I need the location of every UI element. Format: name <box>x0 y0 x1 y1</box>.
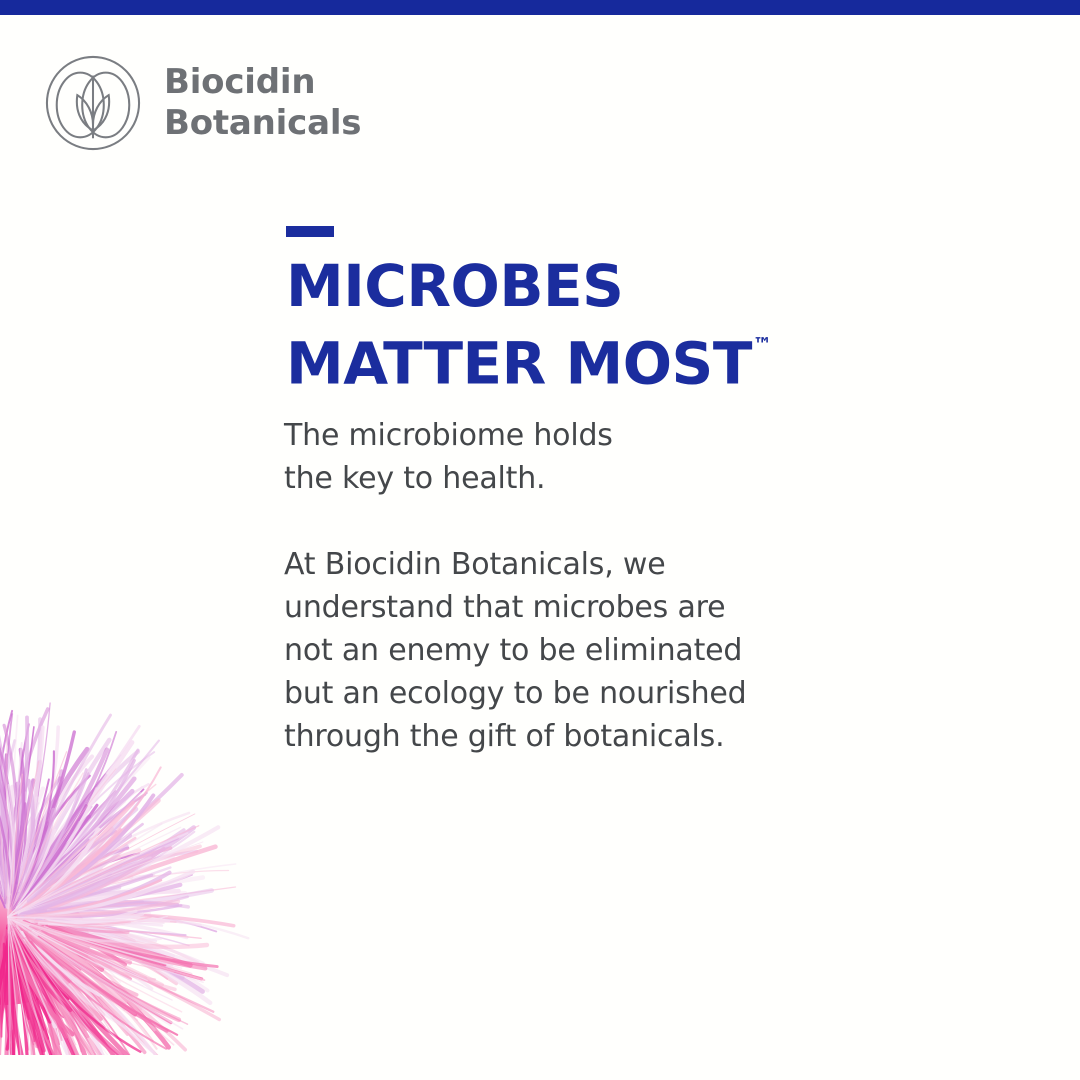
paragraph-2-line-3: not an enemy to be eliminated <box>284 629 844 672</box>
paragraph-2: At Biocidin Botanicals, we understand th… <box>284 543 844 758</box>
paragraph-2-line-2: understand that microbes are <box>284 586 844 629</box>
paragraph-2-line-1: At Biocidin Botanicals, we <box>284 543 844 586</box>
paragraph-2-line-5: through the gift of botanicals. <box>284 715 844 758</box>
trademark-symbol: ™ <box>753 334 772 356</box>
headline-line-2-wrapper: MATTER MOST™ <box>286 322 771 399</box>
brand-wordmark: Biocidin Botanicals <box>164 62 361 144</box>
paragraph-1-line-1: The microbiome holds <box>284 414 844 457</box>
page-title: MICROBES MATTER MOST™ <box>286 251 771 399</box>
brand-name-line-2: Botanicals <box>164 103 361 144</box>
thistle-svg <box>0 655 300 1055</box>
top-accent-bar <box>0 0 1080 15</box>
milk-thistle-flower-image <box>0 655 300 1055</box>
paragraph-2-line-4: but an ecology to be nourished <box>284 672 844 715</box>
headline-line-1: MICROBES <box>286 251 771 322</box>
headline-block: MICROBES MATTER MOST™ <box>286 226 771 399</box>
body-copy: The microbiome holds the key to health. … <box>284 414 844 758</box>
poster-canvas: Biocidin Botanicals MICROBES MATTER MOST… <box>0 0 1080 1080</box>
headline-accent-dash <box>286 226 334 237</box>
paragraph-1: The microbiome holds the key to health. <box>284 414 844 500</box>
brand-name-line-1: Biocidin <box>164 62 361 103</box>
brand-lockup[interactable]: Biocidin Botanicals <box>44 54 361 152</box>
headline-line-2: MATTER MOST <box>286 329 752 397</box>
paragraph-1-line-2: the key to health. <box>284 457 844 500</box>
biocidin-botanicals-logo-icon <box>44 54 142 152</box>
